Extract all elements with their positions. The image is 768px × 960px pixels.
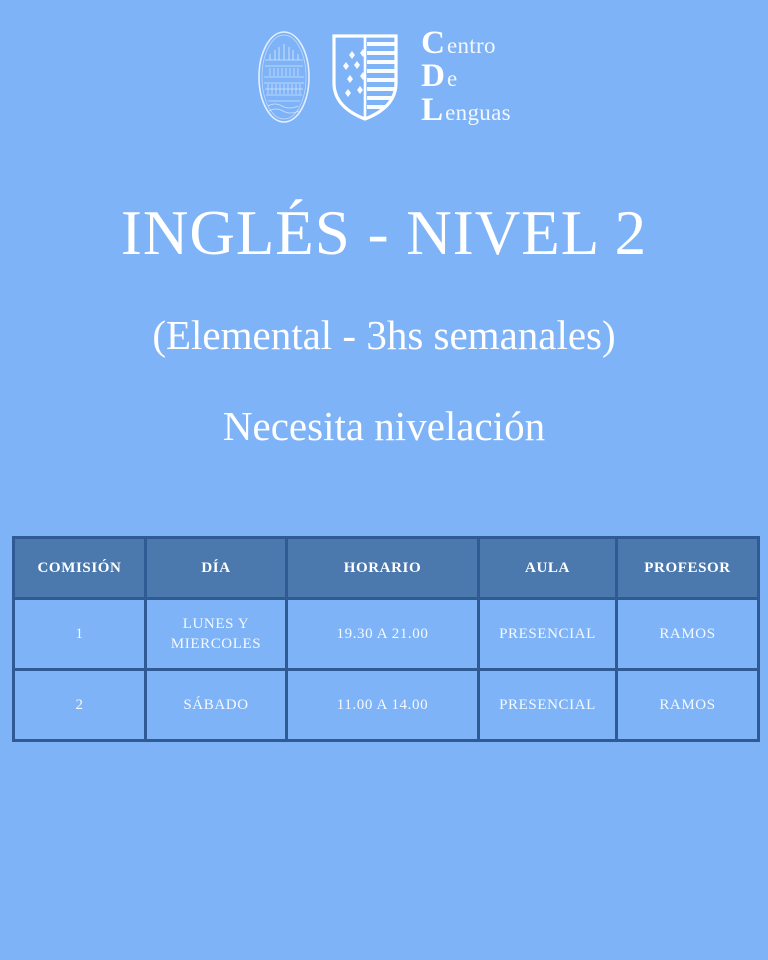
cell-dia: LUNES Y MIERCOLES <box>146 599 287 670</box>
cell-horario: 19.30 A 21.00 <box>287 599 479 670</box>
column-header-comision: COMISIÓN <box>14 538 146 599</box>
logo-rest-entro: entro <box>445 35 496 57</box>
shield-crest-icon <box>329 31 401 123</box>
cell-dia: SÁBADO <box>146 670 287 741</box>
cell-comision: 2 <box>14 670 146 741</box>
table-row: 2 SÁBADO 11.00 A 14.00 PRESENCIAL RAMOS <box>14 670 759 741</box>
cell-dia-line1: LUNES Y <box>183 616 250 632</box>
logo-rest-enguas: enguas <box>443 102 511 124</box>
schedule-table: COMISIÓN DÍA HORARIO AULA PROFESOR 1 LUN… <box>12 536 760 742</box>
cell-horario: 11.00 A 14.00 <box>287 670 479 741</box>
logo-line-de: D e <box>421 61 511 93</box>
cell-dia-line2: MIERCOLES <box>171 636 261 652</box>
table-row: 1 LUNES Y MIERCOLES 19.30 A 21.00 PRESEN… <box>14 599 759 670</box>
logo-cap-d: D <box>421 61 445 93</box>
column-header-dia: DÍA <box>146 538 287 599</box>
column-header-horario: HORARIO <box>287 538 479 599</box>
cell-aula: PRESENCIAL <box>479 599 617 670</box>
logo-rest-e: e <box>445 68 458 90</box>
poster-canvas: C entro D e L enguas INGLÉS - NIVEL 2 (E… <box>0 0 768 960</box>
column-header-aula: AULA <box>479 538 617 599</box>
column-header-profesor: PROFESOR <box>617 538 759 599</box>
logo-line-centro: C entro <box>421 28 511 60</box>
cell-profesor: RAMOS <box>617 670 759 741</box>
page-subtitle: (Elemental - 3hs semanales) <box>0 313 768 358</box>
logo-cap-l: L <box>421 95 443 127</box>
logo-wordmark: C entro D e L enguas <box>419 31 511 123</box>
university-seal-oval-icon <box>257 30 311 124</box>
logo-block: C entro D e L enguas <box>0 24 768 130</box>
cell-comision: 1 <box>14 599 146 670</box>
table-header-row: COMISIÓN DÍA HORARIO AULA PROFESOR <box>14 538 759 599</box>
logo-cap-c: C <box>421 28 445 60</box>
cell-profesor: RAMOS <box>617 599 759 670</box>
page-note: Necesita nivelación <box>0 404 768 449</box>
logo-line-lenguas: L enguas <box>421 95 511 127</box>
cell-aula: PRESENCIAL <box>479 670 617 741</box>
schedule-table-wrapper: COMISIÓN DÍA HORARIO AULA PROFESOR 1 LUN… <box>12 536 757 742</box>
page-title: INGLÉS - NIVEL 2 <box>0 200 768 266</box>
